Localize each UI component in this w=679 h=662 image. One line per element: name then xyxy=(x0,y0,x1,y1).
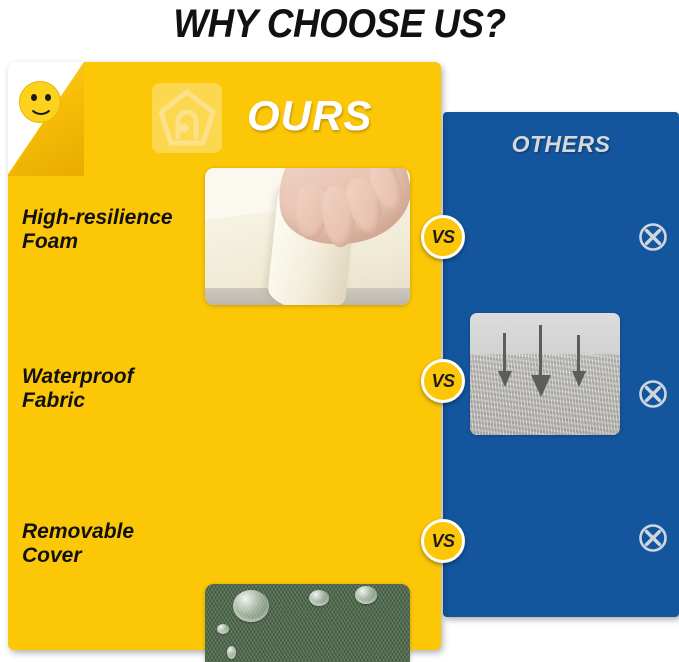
others-title: OTHERS xyxy=(443,131,679,158)
x-circle-icon xyxy=(638,379,668,409)
ours-image-1 xyxy=(205,168,410,305)
ours-image-2 xyxy=(205,584,410,662)
feature-label-3: Removable Cover xyxy=(22,520,202,569)
x-circle-icon xyxy=(638,523,668,553)
feature-label-1: High-resilience Foam xyxy=(22,206,202,255)
feature-label-2: Waterproof Fabric xyxy=(22,365,202,414)
vs-badge-1: VS xyxy=(421,215,465,259)
comparison-infographic: WHY CHOOSE US? OURS OTHERS High-resilien… xyxy=(0,0,679,662)
smiley-face-icon xyxy=(19,81,61,123)
page-title: WHY CHOOSE US? xyxy=(27,2,652,47)
vs-badge-3: VS xyxy=(421,519,465,563)
home-icon xyxy=(152,83,222,153)
others-image-1 xyxy=(470,313,620,435)
ours-title: OURS xyxy=(247,92,372,140)
vs-badge-2: VS xyxy=(421,359,465,403)
x-circle-icon xyxy=(638,222,668,252)
